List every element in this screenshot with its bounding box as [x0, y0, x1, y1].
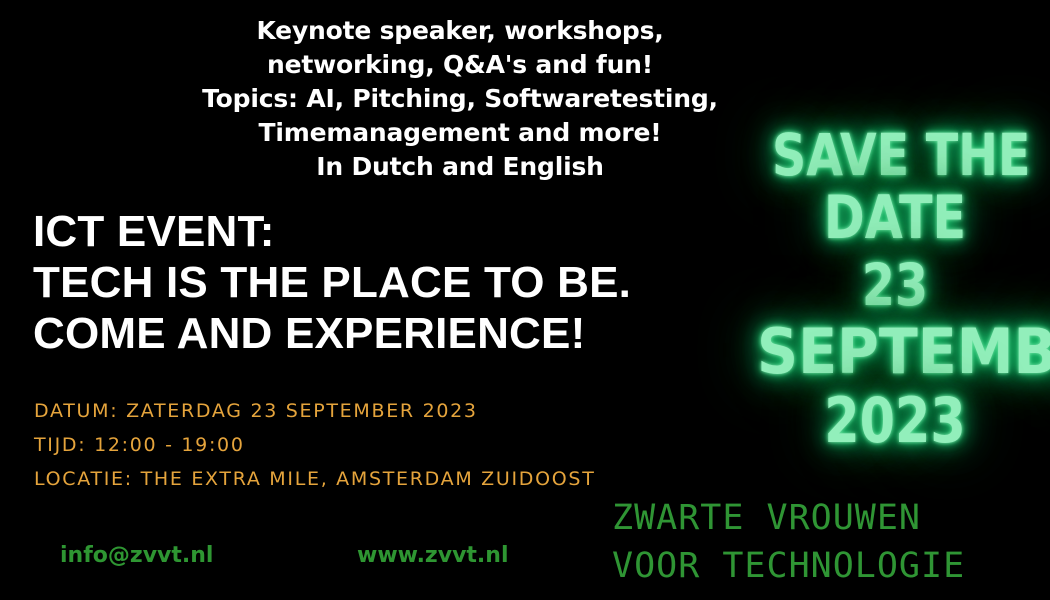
- page-title: ICT EVENT: TECH IS THE PLACE TO BE. COME…: [33, 206, 631, 359]
- event-details-block: DATUM: ZATERDAG 23 SEPTEMBER 2023 TIJD: …: [34, 394, 596, 496]
- save-the-date-neon-sign: SAVE THE DATE 23 SEPTEMBER 2023: [745, 126, 1045, 456]
- neon-line-date: DATE: [772, 184, 1018, 252]
- email-link[interactable]: info@zvvt.nl: [60, 542, 213, 570]
- intro-line-3: Topics: AI, Pitching, Softwaretesting,: [0, 82, 920, 116]
- intro-line-1: Keynote speaker, workshops,: [0, 14, 920, 48]
- headline-line-3: COME AND EXPERIENCE!: [33, 308, 631, 359]
- logo-line-1: ZWARTE VROUWEN: [612, 494, 965, 542]
- neon-line-save-the: SAVE THE: [772, 126, 1018, 184]
- event-time-line: TIJD: 12:00 - 19:00: [34, 428, 596, 462]
- event-location-line: LOCATIE: THE EXTRA MILE, AMSTERDAM ZUIDO…: [34, 462, 596, 496]
- organisation-logo-wordmark: ZWARTE VROUWEN VOOR TECHNOLOGIE: [612, 494, 965, 590]
- intro-line-2: networking, Q&A's and fun!: [0, 48, 920, 82]
- headline-line-1: ICT EVENT:: [33, 206, 631, 257]
- website-link[interactable]: www.zvvt.nl: [357, 542, 509, 570]
- neon-line-year: 2023: [772, 386, 1018, 456]
- neon-line-day: 23: [772, 252, 1018, 318]
- logo-line-2: VOOR TECHNOLOGIE: [612, 542, 965, 590]
- event-date-line: DATUM: ZATERDAG 23 SEPTEMBER 2023: [34, 394, 596, 428]
- event-poster: Keynote speaker, workshops, networking, …: [0, 0, 1050, 600]
- headline-line-2: TECH IS THE PLACE TO BE.: [33, 257, 631, 308]
- neon-line-month: SEPTEMBER: [757, 318, 1033, 386]
